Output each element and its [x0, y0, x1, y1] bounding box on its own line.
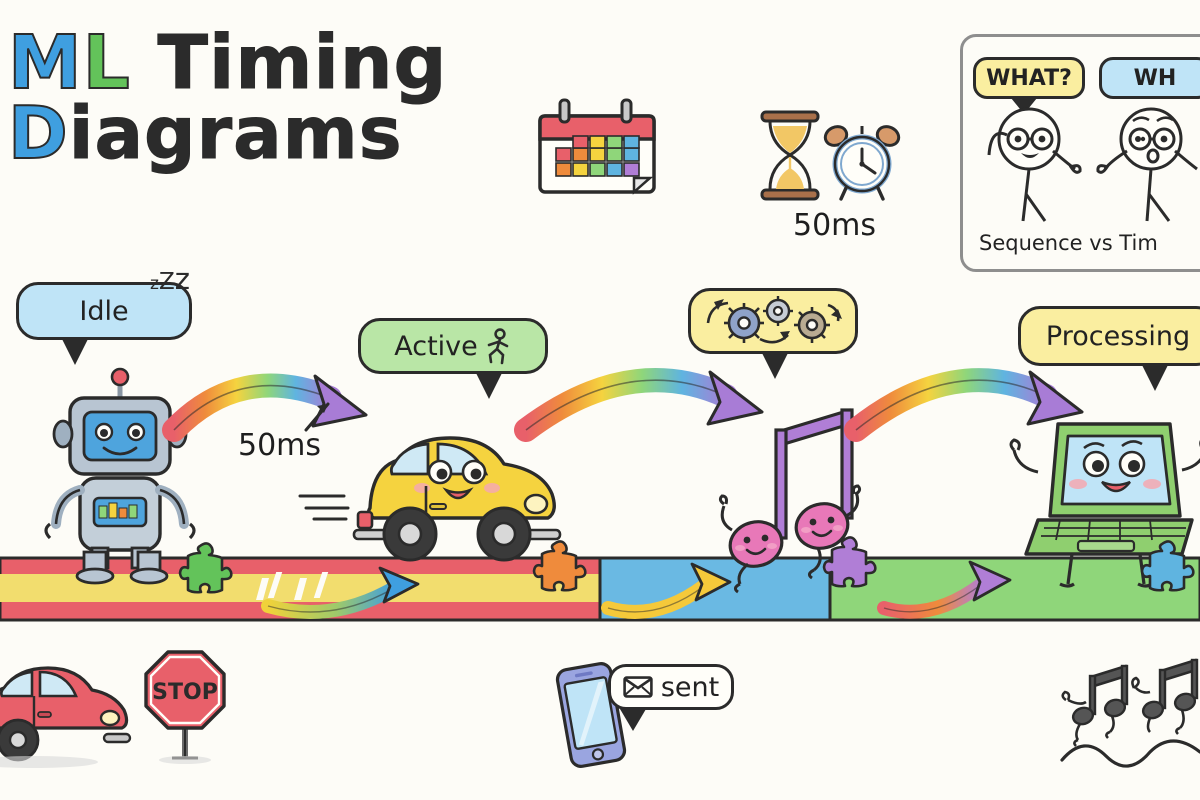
sent-bubble: sent: [608, 664, 734, 710]
calendar-icon: [534, 96, 664, 206]
bubble-what: WHAT?: [973, 57, 1085, 99]
title-letter-d: D: [8, 91, 69, 175]
puzzle-piece-purple: [830, 536, 874, 584]
alarm-clock-icon: [820, 122, 904, 204]
vs-panel-caption: Sequence vs Tim: [979, 231, 1158, 255]
title-line-2: Diagrams: [8, 99, 468, 168]
puzzle-piece-blue: [1148, 540, 1192, 588]
state-bubble-gears: [688, 288, 858, 354]
road-arrow-1: [262, 562, 452, 622]
diagram-canvas: ML Timing Diagrams: [0, 0, 1200, 800]
running-person-icon: [484, 329, 512, 363]
state-label-processing: Processing: [1046, 321, 1190, 352]
pointer-arrow-icon: [300, 396, 340, 436]
stop-sign-icon: STOP: [140, 646, 230, 766]
sequence-vs-timing-panel: WHAT? WH: [960, 34, 1200, 272]
gears-processing-icon: [698, 297, 848, 345]
bubble-tail-active: [476, 373, 502, 399]
stop-sign-label: STOP: [152, 680, 218, 705]
top-duration-label: 50ms: [793, 208, 876, 243]
puzzle-piece-orange: [540, 540, 584, 588]
page-title: ML Timing Diagrams: [8, 28, 468, 168]
road-arrow-2: [600, 556, 760, 620]
bubble-tail-idle: [62, 339, 88, 365]
speed-lines-icon: [296, 488, 356, 528]
rainbow-arrow-3: [850, 352, 1100, 442]
state-label-idle: Idle: [79, 296, 128, 327]
bubble-when: WH: [1099, 57, 1200, 99]
robot-feet: [42, 552, 202, 586]
road-arrow-3: [876, 556, 1046, 620]
red-car-icon: [0, 650, 134, 770]
hourglass-icon: [756, 110, 824, 202]
title-word-iagrams: iagrams: [69, 91, 403, 175]
sent-bubble-tail: [620, 709, 646, 731]
stick-figure-glasses-surprised: [1095, 99, 1200, 224]
sent-label: sent: [661, 672, 719, 703]
envelope-icon: [623, 676, 653, 698]
rainbow-arrow-2: [520, 352, 780, 442]
zzz-sleep-icon: zZz: [150, 262, 190, 296]
puzzle-piece-green: [186, 542, 230, 590]
state-label-active: Active: [394, 331, 478, 362]
bubble-tail-processing: [1142, 365, 1168, 391]
title-line-1: ML Timing: [8, 28, 468, 99]
stick-figure-glasses-smiling: [973, 99, 1093, 224]
dancing-music-notes-icon: [1056, 652, 1200, 782]
